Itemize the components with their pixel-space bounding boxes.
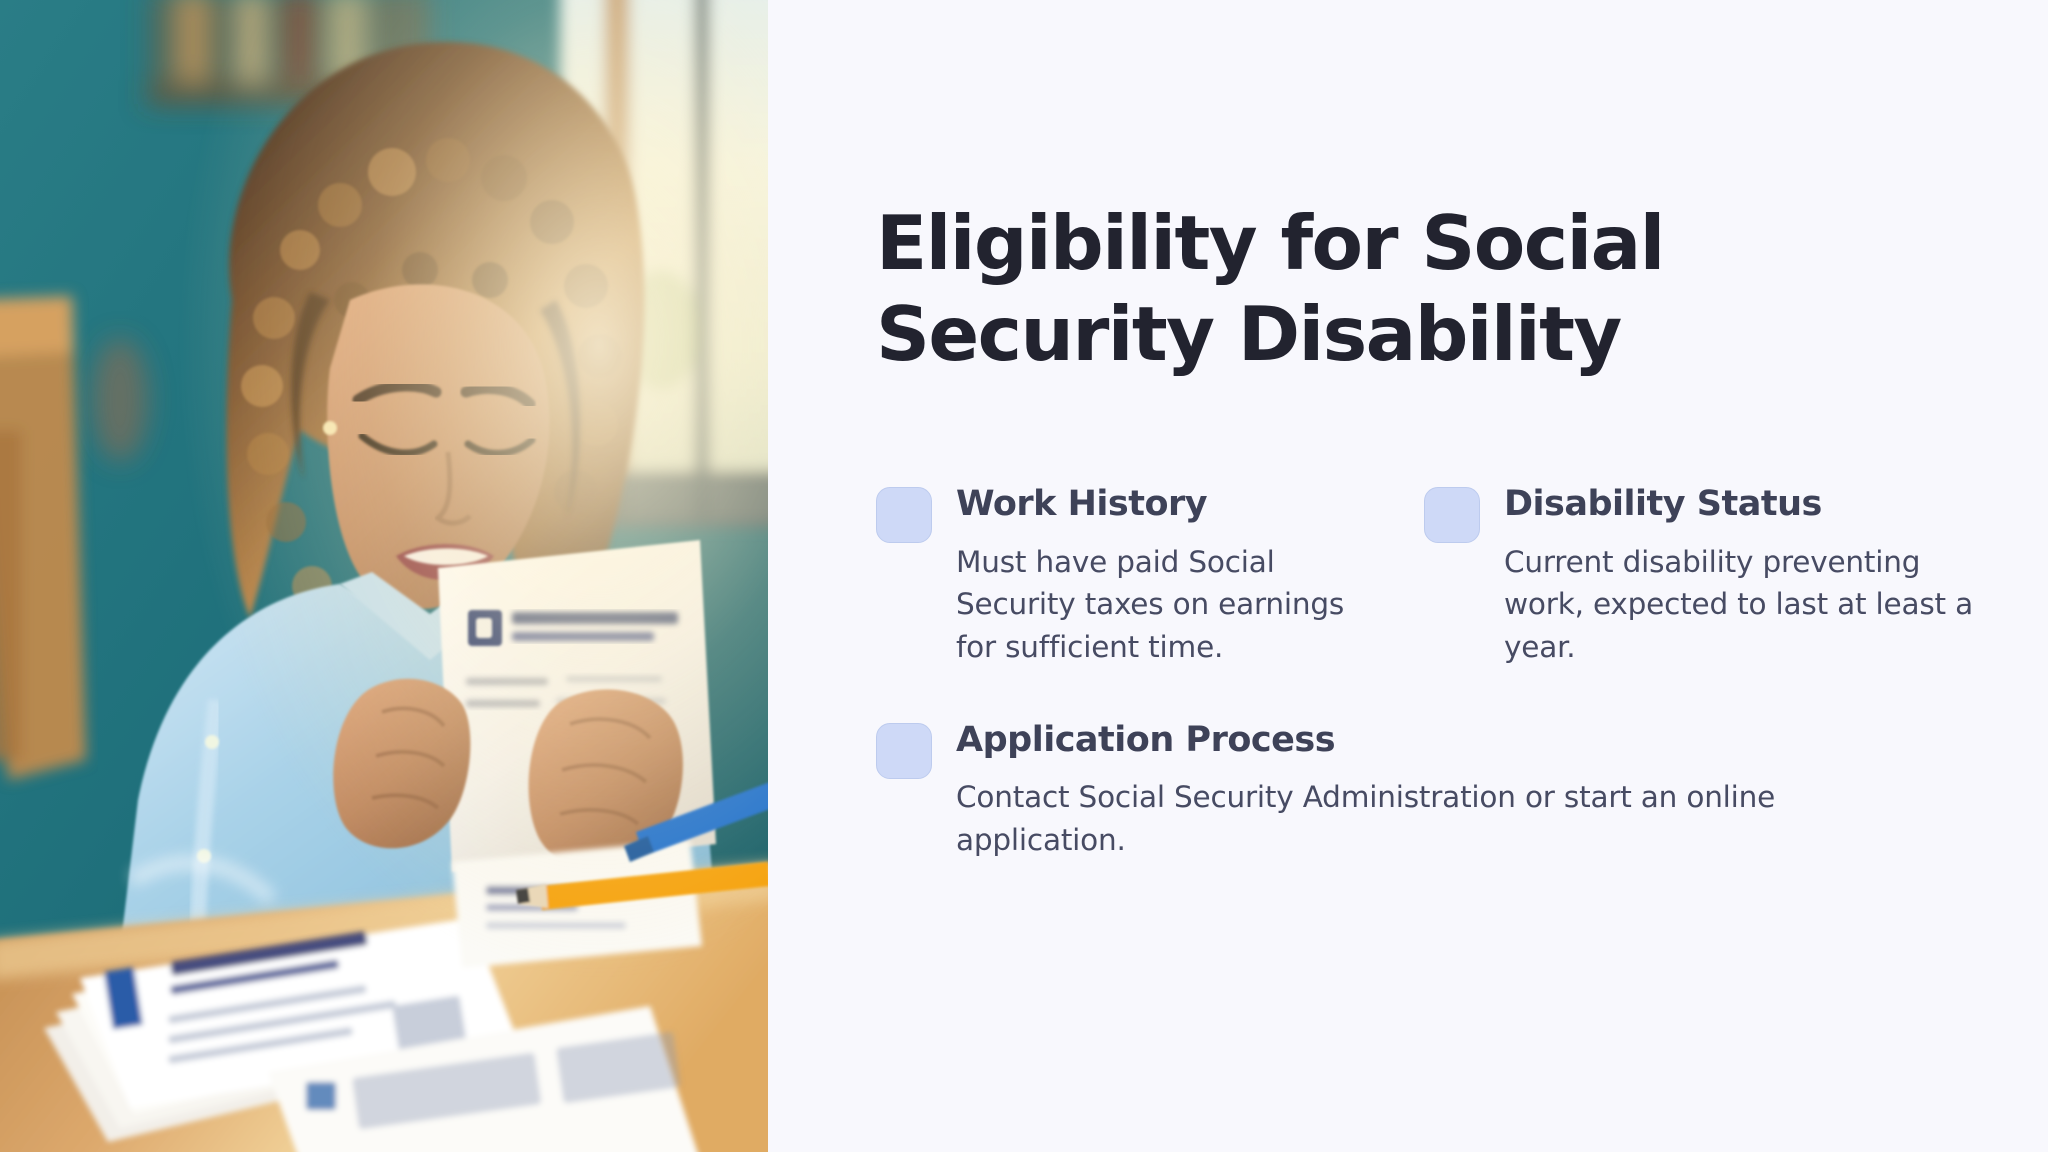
feature-list: Work History Must have paid Social Secur…	[876, 484, 1956, 862]
content-panel: Eligibility for Social Security Disabili…	[768, 0, 2048, 1152]
rounded-square-icon	[876, 487, 932, 543]
feature-title: Disability Status	[1504, 484, 1974, 525]
feature-description: Contact Social Security Administration o…	[956, 776, 1856, 862]
hero-photo	[0, 0, 768, 1152]
feature-disability-status: Disability Status Current disability pre…	[1424, 484, 1984, 669]
rounded-square-icon	[1424, 487, 1480, 543]
sunlight-glow	[0, 0, 768, 1152]
rounded-square-icon	[876, 723, 932, 779]
feature-work-history: Work History Must have paid Social Secur…	[876, 484, 1360, 669]
feature-body: Application Process Contact Social Secur…	[956, 720, 1856, 862]
feature-body: Work History Must have paid Social Secur…	[956, 484, 1346, 669]
feature-row-bottom: Application Process Contact Social Secur…	[876, 720, 1956, 862]
feature-row-top: Work History Must have paid Social Secur…	[876, 484, 1956, 669]
feature-title: Work History	[956, 484, 1346, 525]
slide-root: Eligibility for Social Security Disabili…	[0, 0, 2048, 1152]
feature-application-process: Application Process Contact Social Secur…	[876, 720, 1876, 862]
feature-body: Disability Status Current disability pre…	[1504, 484, 1974, 669]
photo-illustration	[0, 0, 768, 1152]
feature-title: Application Process	[956, 720, 1856, 761]
feature-description: Must have paid Social Security taxes on …	[956, 541, 1346, 669]
page-title: Eligibility for Social Security Disabili…	[876, 198, 1966, 380]
feature-description: Current disability preventing work, expe…	[1504, 541, 1974, 669]
